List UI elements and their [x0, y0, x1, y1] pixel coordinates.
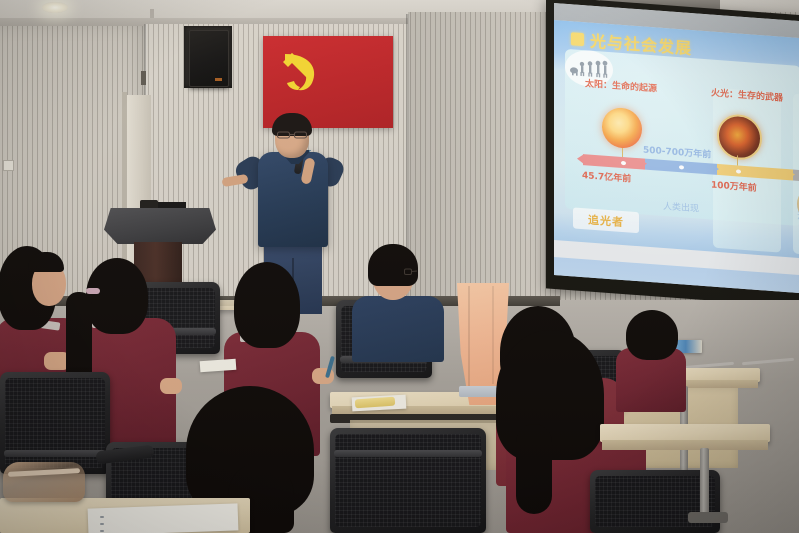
classroom-photo: 光与社会发展 太阳：生命的起源 火光：生存的武器 [0, 0, 799, 533]
slide-column-heading-sun: 太阳：生命的起源 [585, 76, 657, 94]
student-hand [160, 378, 182, 394]
wall-speaker-icon [189, 30, 229, 87]
slide-watermark: 追光者 [573, 207, 639, 233]
slide-date-human: 500-700万年前 [643, 143, 711, 161]
sun-icon [602, 106, 642, 149]
student-hair [626, 310, 678, 360]
bouquet-fold [468, 286, 470, 386]
slide-date-sun: 45.7亿年前 [582, 168, 631, 185]
chair-mesh [335, 434, 481, 527]
notebook-ring [100, 530, 104, 532]
timeline-node-human [679, 165, 684, 169]
chair-lumbar [4, 450, 106, 457]
presenter-shirt [258, 152, 328, 247]
timeline-node-sun [621, 160, 626, 164]
timeline-arrow-3 [787, 169, 795, 180]
desk-front-right-edge [602, 440, 768, 450]
loose-papers[interactable] [88, 503, 239, 533]
speaker-led-icon [215, 78, 222, 81]
slide-bullet-icon [571, 32, 584, 46]
hair-tie [86, 288, 100, 294]
student-head-hair [86, 258, 148, 334]
student-ponytail [516, 424, 552, 514]
glasses-icon [277, 131, 307, 139]
presentation-slide: 光与社会发展 太阳：生命的起源 火光：生存的武器 [554, 20, 799, 259]
student-hair [368, 244, 418, 286]
projection-screen: 光与社会发展 太阳：生命的起源 火光：生存的武器 [546, 0, 799, 308]
desk-leg-front-right [700, 448, 709, 518]
timeline-arrow-1 [639, 158, 647, 169]
ceiling-light-icon [42, 2, 68, 13]
timeline-segment-sun [583, 154, 645, 170]
slide-footer [554, 257, 799, 294]
notebook-ring [100, 523, 104, 525]
sun-stem [622, 148, 623, 157]
timeline-node-fire [736, 169, 741, 173]
slide-caption-human: 人类出现 [663, 199, 699, 215]
slide-content-card: 太阳：生命的起源 火光：生存的武器 [565, 49, 799, 226]
desk-foot-front-right [688, 512, 728, 523]
bouquet-fold [492, 286, 494, 384]
notebook-ring [100, 516, 104, 518]
chair-front-right[interactable] [330, 428, 486, 533]
fire-stem [737, 155, 738, 165]
wall-panel-marker [141, 71, 146, 85]
screen-surface: 光与社会发展 太阳：生命的起源 火光：生存的武器 [554, 3, 799, 294]
student-hair [234, 262, 300, 348]
light-switch[interactable] [3, 160, 14, 171]
slide-watermark-text: 追光者 [588, 211, 624, 230]
timeline-arrow-2 [711, 163, 719, 174]
podium-top [104, 208, 216, 244]
hammer-and-sickle-icon [279, 49, 325, 93]
glasses-icon [404, 268, 420, 276]
ceiling-fixture [150, 9, 154, 18]
chair-front-left[interactable] [0, 372, 110, 474]
chair-lumbar [334, 450, 482, 457]
student-shirt [352, 296, 444, 362]
